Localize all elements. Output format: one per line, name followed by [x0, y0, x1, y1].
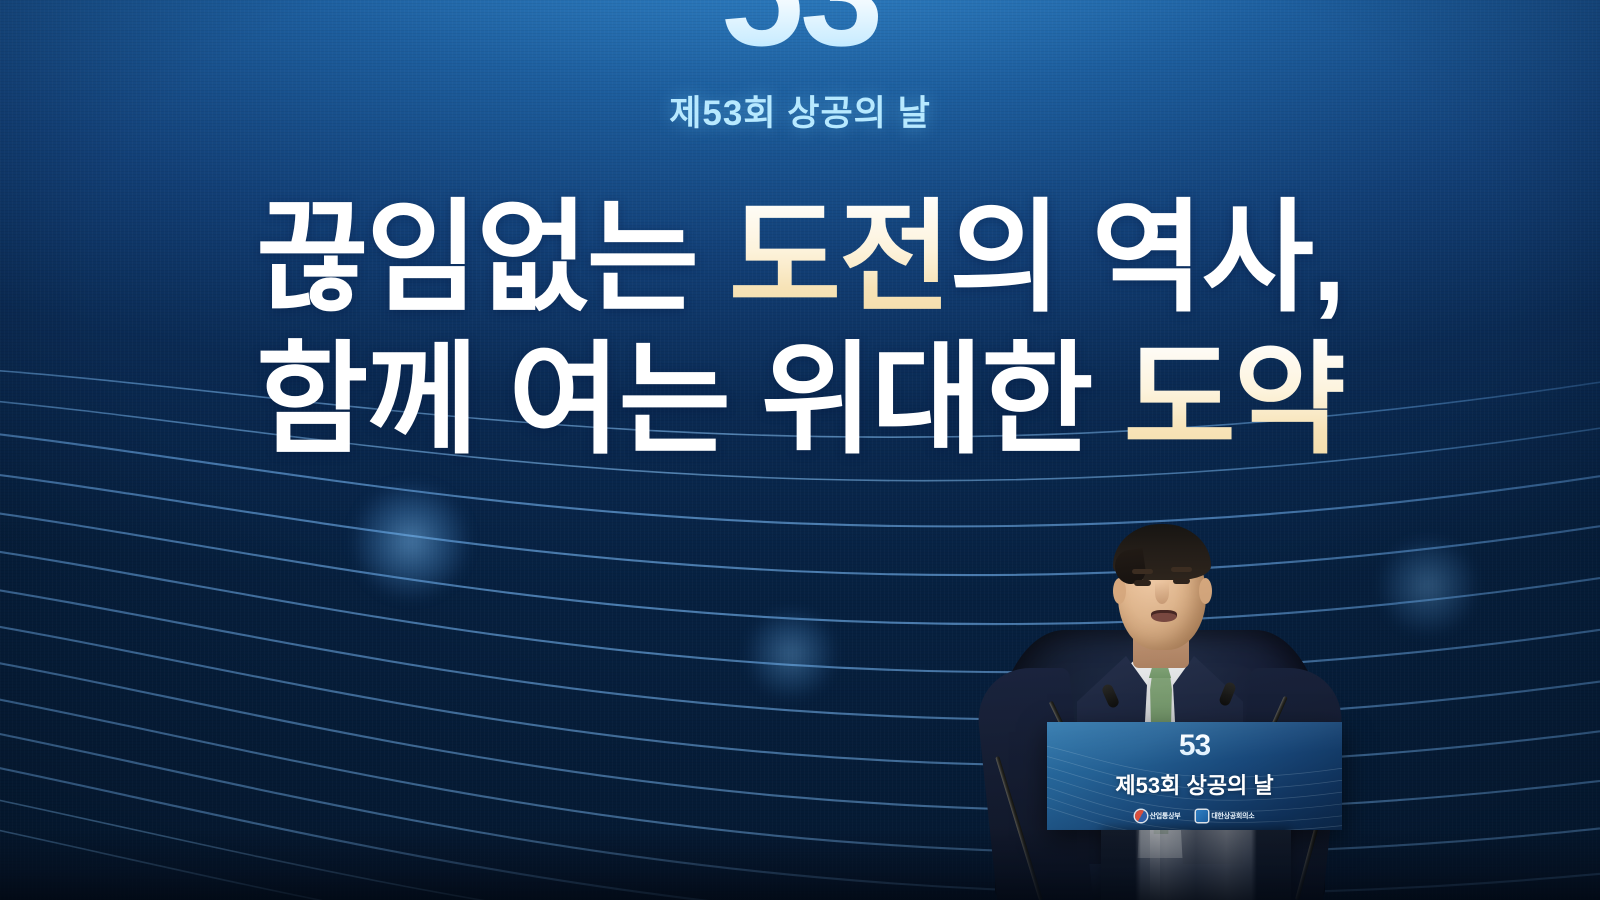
organization-name: 산업통상부: [1150, 811, 1181, 821]
floor-shadow: [0, 828, 1600, 900]
podium-organization-logos: 산업통상부 대한상공회의소: [1135, 810, 1255, 822]
motie-emblem-icon: [1135, 810, 1147, 822]
organization-name: 대한상공회의소: [1211, 811, 1254, 821]
kcci-emblem-icon: [1196, 810, 1208, 822]
podium-53-logo: 53: [1179, 731, 1210, 761]
podium-title: 제53회 상공의 날: [1115, 768, 1273, 800]
photo-scene: 53 제53회 상공의 날 끊임없는 도전의 역사, 함께 여는 위대한 도약: [0, 0, 1600, 900]
organization-kcci: 대한상공회의소: [1196, 810, 1254, 822]
organization-motie: 산업통상부: [1135, 810, 1181, 822]
podium-panel: 53 제53회 상공의 날 산업통상부 대한상공회의소: [1047, 722, 1342, 830]
image-vignette: [0, 0, 1600, 900]
